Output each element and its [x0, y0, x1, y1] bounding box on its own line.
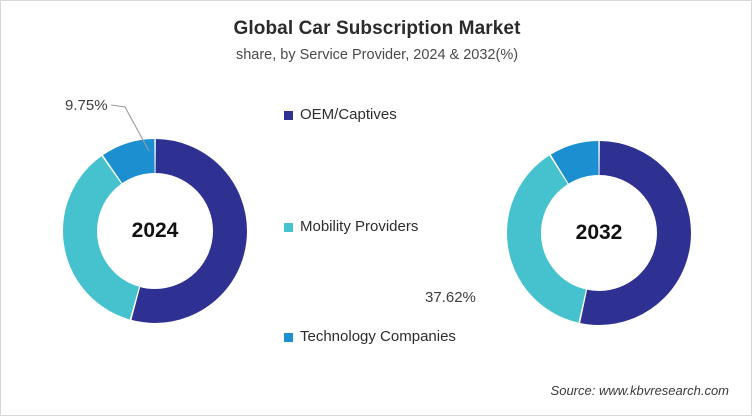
donut-chart-2024: 2024 [55, 131, 255, 331]
donut-svg-2032 [499, 133, 699, 333]
donut-slices-2024 [80, 156, 230, 306]
chart-card: Global Car Subscription Market share, by… [0, 0, 752, 416]
donut-chart-2032: 2032 [499, 133, 699, 333]
legend-label-oem-captives: OEM/Captives [300, 106, 397, 124]
legend-swatch-icon-mobility-providers [284, 223, 293, 232]
legend-swatch-icon-technology-companies [284, 333, 293, 342]
legend-item-mobility-providers[interactable]: Mobility Providers [284, 218, 418, 236]
legend-label-mobility-providers: Mobility Providers [300, 218, 418, 236]
legend-label-technology-companies: Technology Companies [300, 328, 456, 346]
chart-title: Global Car Subscription Market [1, 18, 752, 40]
donut-svg-2024 [55, 131, 255, 331]
legend-item-oem-captives[interactable]: OEM/Captives [284, 106, 397, 124]
callout-label-2032: 37.62% [425, 289, 476, 306]
chart-subtitle: share, by Service Provider, 2024 & 2032(… [1, 47, 752, 63]
callout-label-2024: 9.75% [65, 97, 108, 114]
legend-swatch-icon-oem-captives [284, 111, 293, 120]
donut-slices-2032 [524, 158, 674, 308]
legend-item-technology-companies[interactable]: Technology Companies [284, 328, 456, 346]
source-note: Source: www.kbvresearch.com [551, 383, 729, 398]
